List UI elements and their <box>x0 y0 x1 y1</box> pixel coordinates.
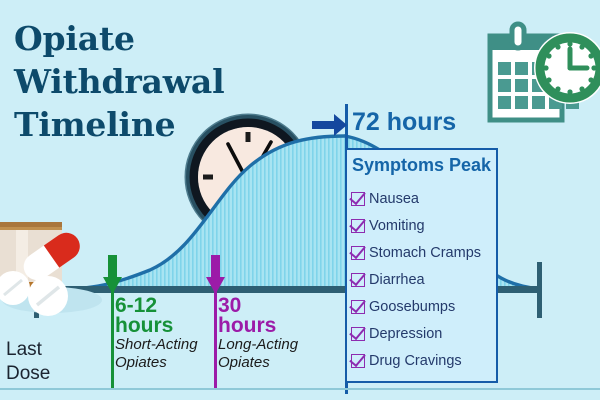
marker-long-acting: 30 hours Long-Acting Opiates <box>218 296 298 372</box>
list-item[interactable]: Diarrhea <box>351 266 499 293</box>
marker-time: 30 <box>218 296 298 316</box>
marker-unit: hours <box>218 316 298 336</box>
symptom-label: Stomach Cramps <box>369 245 481 261</box>
marker-sub-line1: Short-Acting <box>115 336 198 354</box>
marker-short-acting: 6-12 hours Short-Acting Opiates <box>115 296 198 372</box>
axis-tick-end <box>537 262 542 318</box>
symptoms-panel-heading: Symptoms Peak <box>352 155 491 176</box>
symptoms-list: Nausea Vomiting Stomach Cramps Diarrhea … <box>351 185 499 374</box>
marker-sub-line2: Opiates <box>218 354 298 372</box>
list-item[interactable]: Goosebumps <box>351 293 499 320</box>
calendar-clock-icon <box>486 18 600 134</box>
checkbox-checked-icon[interactable] <box>351 273 365 287</box>
down-arrow-icon <box>206 255 225 295</box>
checkbox-checked-icon[interactable] <box>351 246 365 260</box>
infographic-canvas: Opiate Withdrawal Timeline 72 hours Symp… <box>0 0 600 400</box>
symptom-label: Depression <box>369 326 442 342</box>
list-item[interactable]: Depression <box>351 320 499 347</box>
checkbox-checked-icon[interactable] <box>351 354 365 368</box>
checkbox-checked-icon[interactable] <box>351 300 365 314</box>
checkbox-checked-icon[interactable] <box>351 219 365 233</box>
list-item[interactable]: Nausea <box>351 185 499 212</box>
symptom-label: Drug Cravings <box>369 353 462 369</box>
page-title: Opiate Withdrawal Timeline <box>14 17 224 146</box>
start-label: Last Dose <box>6 338 50 386</box>
list-item[interactable]: Vomiting <box>351 212 499 239</box>
symptom-label: Goosebumps <box>369 299 455 315</box>
checkbox-checked-icon[interactable] <box>351 327 365 341</box>
marker-stem-short-acting <box>111 290 114 388</box>
checkbox-checked-icon[interactable] <box>351 192 365 206</box>
symptom-label: Nausea <box>369 191 419 207</box>
list-item[interactable]: Drug Cravings <box>351 347 499 374</box>
pill-bottle-icon <box>0 200 108 318</box>
marker-time: 6-12 <box>115 296 198 316</box>
marker-sub-line2: Opiates <box>115 354 198 372</box>
peak-time-label: 72 hours <box>352 108 456 137</box>
symptom-label: Vomiting <box>369 218 425 234</box>
down-arrow-icon <box>103 255 122 295</box>
marker-sub-line1: Long-Acting <box>218 336 298 354</box>
marker-unit: hours <box>115 316 198 336</box>
bottom-divider <box>0 388 600 390</box>
symptom-label: Diarrhea <box>369 272 425 288</box>
marker-stem-long-acting <box>214 290 217 388</box>
list-item[interactable]: Stomach Cramps <box>351 239 499 266</box>
right-arrow-icon <box>312 113 348 137</box>
